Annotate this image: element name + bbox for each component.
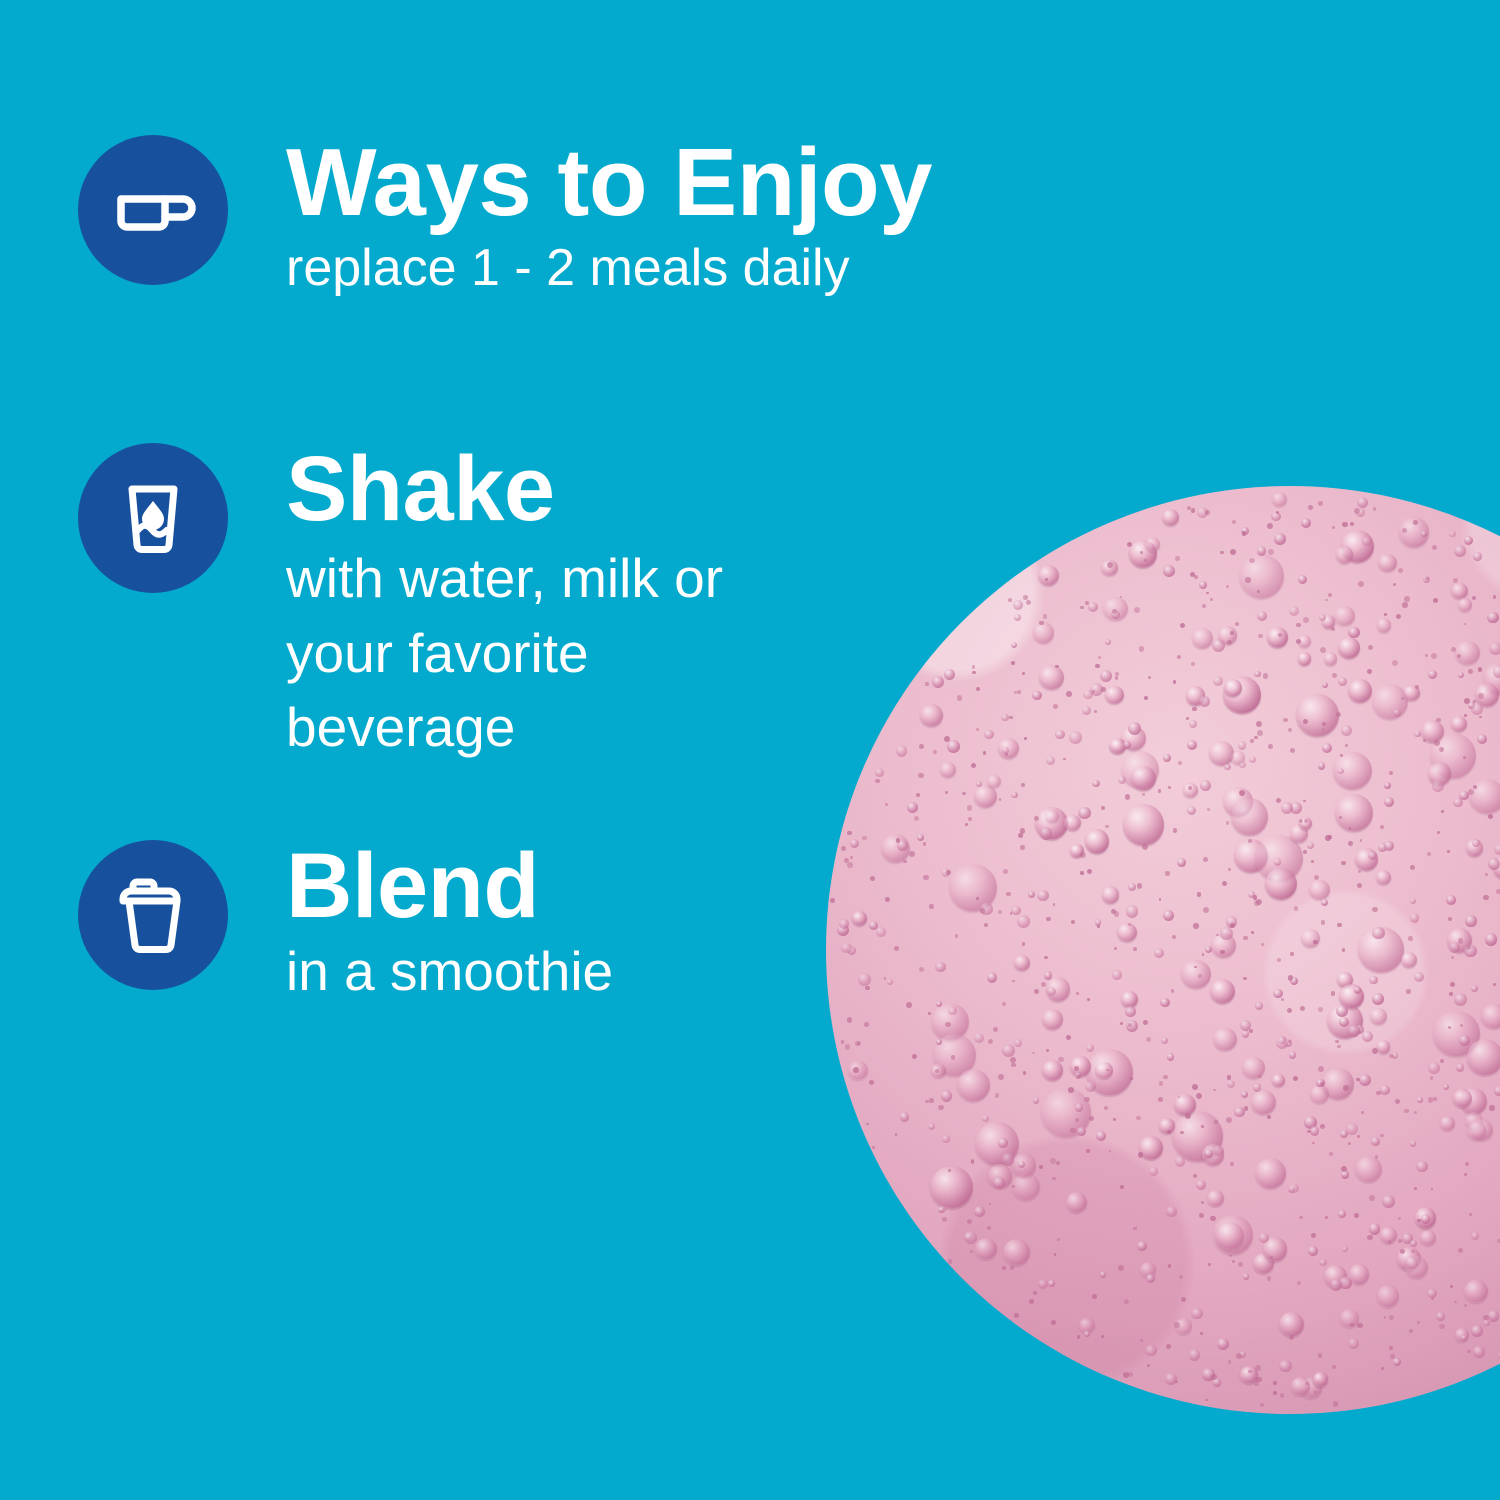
infographic-canvas: Ways to Enjoy replace 1 - 2 meals daily …	[0, 0, 1500, 1500]
blend-subtext-line-1: in a smoothie	[286, 942, 613, 1000]
section-shake: Shake with water, milk or your favorite …	[78, 443, 723, 756]
water-glass-icon	[107, 472, 199, 564]
shake-subtext-line-1: with water, milk or	[286, 549, 723, 607]
ways-copy: Ways to Enjoy replace 1 - 2 meals daily	[286, 135, 932, 296]
ways-headline: Ways to Enjoy	[286, 137, 932, 229]
shake-copy: Shake with water, milk or your favorite …	[286, 443, 723, 756]
smoothie-photo	[760, 420, 1500, 1480]
section-blend: Blend in a smoothie	[78, 840, 613, 1001]
blend-headline: Blend	[286, 842, 613, 930]
foam-bubbles	[826, 486, 1500, 1415]
blend-copy: Blend in a smoothie	[286, 840, 613, 1001]
shake-headline: Shake	[286, 445, 723, 533]
ways-subtext-line-1: replace 1 - 2 meals daily	[286, 241, 932, 296]
shaker-bottle-badge	[78, 840, 228, 990]
shaker-bottle-icon	[107, 869, 199, 961]
shake-subtext-line-2: your favorite	[286, 624, 723, 682]
measuring-scoop-badge	[78, 135, 228, 285]
content-column: Ways to Enjoy replace 1 - 2 meals daily …	[0, 0, 840, 1500]
water-glass-badge	[78, 443, 228, 593]
measuring-scoop-icon	[105, 162, 201, 258]
smoothie-foam-surface	[826, 486, 1500, 1415]
section-ways-to-enjoy: Ways to Enjoy replace 1 - 2 meals daily	[78, 135, 932, 296]
shake-subtext-line-3: beverage	[286, 698, 723, 756]
